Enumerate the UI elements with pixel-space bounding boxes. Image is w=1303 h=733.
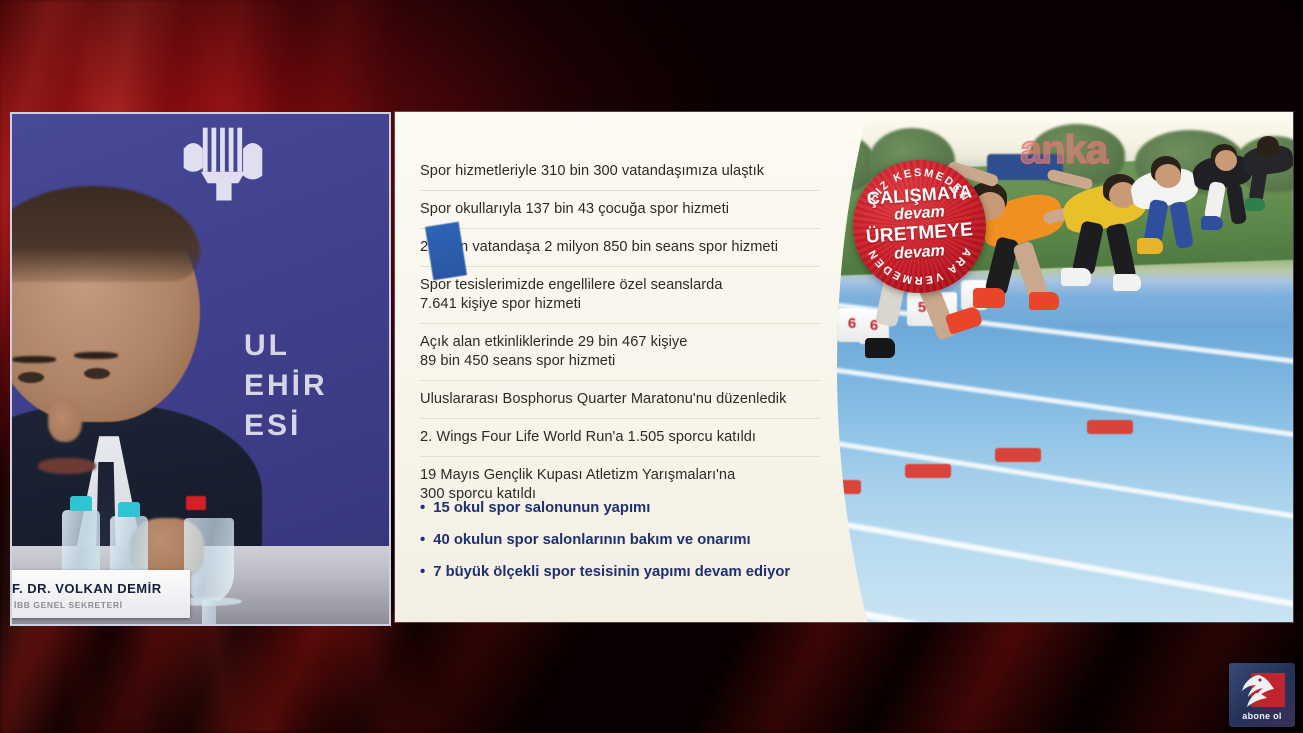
- stat-row: Açık alan etkinliklerinde 29 bin 467 kiş…: [420, 323, 820, 380]
- backdrop-text: UL EHİR ESİ: [244, 326, 328, 446]
- speaker-nose: [48, 400, 82, 442]
- starting-block: [905, 464, 951, 478]
- stat-line: Açık alan etkinliklerinde 29 bin 467 kiş…: [420, 333, 820, 352]
- backdrop-text-line-2: EHİR: [244, 366, 328, 406]
- stat-row: 295 bin vatandaşa 2 milyon 850 bin seans…: [420, 228, 820, 266]
- stat-line: Spor tesislerimizde engellilere özel sea…: [420, 276, 820, 295]
- speaker-brow-right: [74, 352, 118, 359]
- nameplate-name: F. DR. VOLKAN DEMİR: [12, 581, 162, 596]
- bullet-row: •7 büyük ölçekli spor tesisinin yapımı d…: [420, 556, 820, 588]
- bullet-row: •15 okul spor salonunun yapımı: [420, 492, 820, 524]
- stat-line: 295 bin vatandaşa 2 milyon 850 bin seans…: [420, 238, 820, 257]
- starting-block: [995, 448, 1041, 462]
- slogan-badge: HIZ KESMEDEN ARA VERMEDEN ÇALIŞMAYA deva…: [853, 160, 986, 293]
- badge-center-text: ÇALIŞMAYA devam ÜRETMEYE devam: [853, 186, 986, 261]
- speaker-mouth: [38, 458, 96, 474]
- water-glass: [184, 518, 234, 602]
- presentation-slide: 6 6 5 5: [395, 112, 1293, 622]
- speaker-video-panel: UL EHİR ESİ F. DR. VOLKAN DEMİR İBB GENE…: [10, 112, 391, 626]
- stat-line: 7.641 kişiye spor hizmeti: [420, 295, 820, 314]
- bullet-text: 7 büyük ölçekli spor tesisinin yapımı de…: [433, 563, 790, 581]
- stat-row: Spor tesislerimizde engellilere özel sea…: [420, 266, 820, 323]
- stat-row: Spor hizmetleriyle 310 bin 300 vatandaşı…: [420, 160, 820, 190]
- bullet-marker-icon: •: [420, 532, 425, 547]
- bullet-marker-icon: •: [420, 564, 425, 579]
- backdrop-text-line-1: UL: [244, 326, 328, 366]
- stat-row: Uluslararası Bosphorus Quarter Maratonu'…: [420, 380, 820, 418]
- bullet-list: •15 okul spor salonunun yapımı•40 okulun…: [420, 492, 820, 588]
- starting-block: [1087, 420, 1133, 434]
- anka-channel-logo: anka: [1020, 128, 1107, 173]
- statistics-list: Spor hizmetleriyle 310 bin 300 vatandaşı…: [420, 160, 820, 513]
- stat-line: 2. Wings Four Life World Run'a 1.505 spo…: [420, 428, 820, 447]
- broadcast-screen: UL EHİR ESİ F. DR. VOLKAN DEMİR İBB GENE…: [0, 0, 1303, 733]
- subscribe-watermark[interactable]: abone ol: [1229, 663, 1295, 727]
- bullet-marker-icon: •: [420, 500, 425, 515]
- stat-row: 2. Wings Four Life World Run'a 1.505 spo…: [420, 418, 820, 456]
- stat-line: Spor okullarıyla 137 bin 43 çocuğa spor …: [420, 200, 820, 219]
- phoenix-bird-icon: [1236, 671, 1280, 709]
- turkish-flag-pin-icon: [186, 496, 206, 510]
- bullet-text: 40 okulun spor salonlarının bakım ve ona…: [433, 531, 750, 549]
- stat-line: Spor hizmetleriyle 310 bin 300 vatandaşı…: [420, 162, 820, 181]
- bullet-text: 15 okul spor salonunun yapımı: [433, 499, 650, 517]
- ibb-logo-icon: [174, 120, 270, 212]
- speaker-eye-right: [84, 368, 110, 379]
- speaker-nameplate: F. DR. VOLKAN DEMİR İBB GENEL SEKRETERİ: [10, 570, 190, 618]
- stat-row: Spor okullarıyla 137 bin 43 çocuğa spor …: [420, 190, 820, 228]
- stat-line: 89 bin 450 seans spor hizmeti: [420, 352, 820, 371]
- speaker-eye-left: [18, 372, 44, 383]
- watermark-label: abone ol: [1229, 711, 1295, 721]
- speaker-brow-left: [12, 356, 56, 363]
- backdrop-text-line-3: ESİ: [244, 406, 328, 446]
- stat-line: Uluslararası Bosphorus Quarter Maratonu'…: [420, 390, 820, 409]
- bullet-row: •40 okulun spor salonlarının bakım ve on…: [420, 524, 820, 556]
- stat-line: 19 Mayıs Gençlik Kupası Atletizm Yarışma…: [420, 466, 820, 485]
- nameplate-title: İBB GENEL SEKRETERİ: [14, 600, 123, 610]
